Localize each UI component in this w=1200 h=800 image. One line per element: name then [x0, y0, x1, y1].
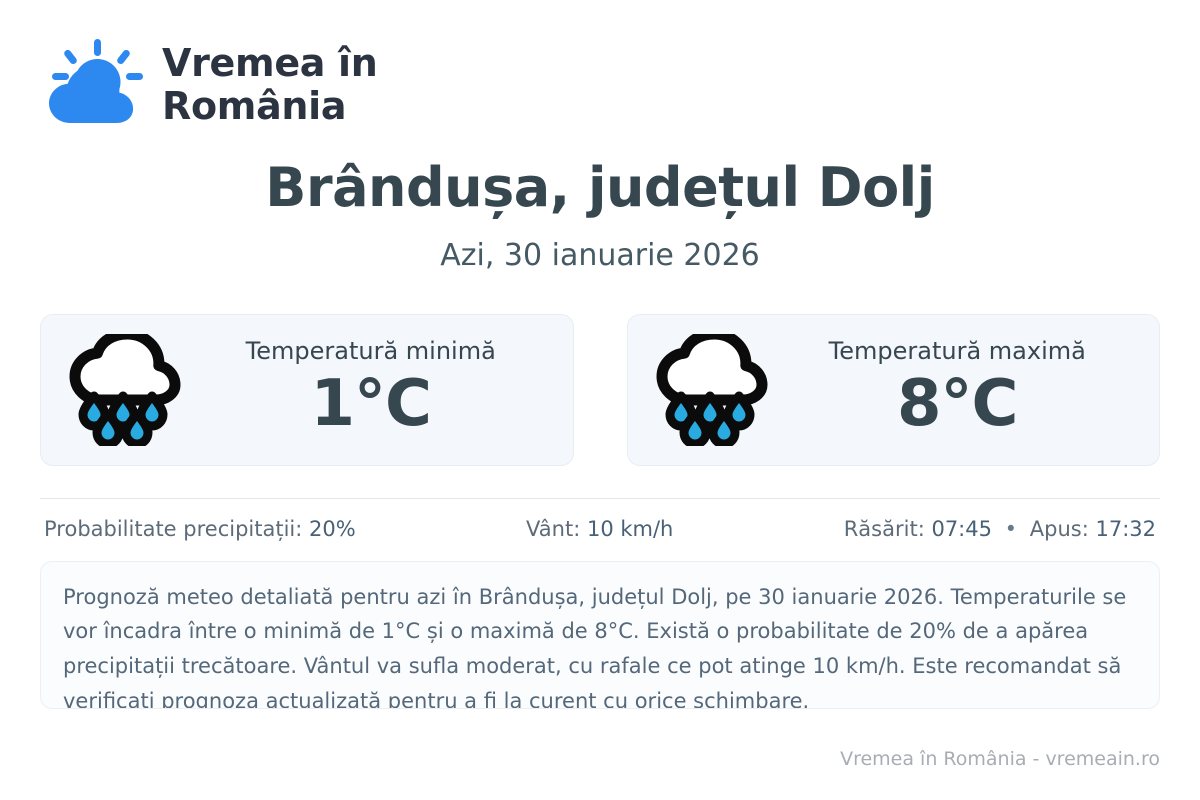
- rain-cloud-icon: [652, 334, 768, 446]
- forecast-description-text: Prognoză meteo detaliată pentru azi în B…: [63, 580, 1137, 709]
- sun-behind-cloud-icon: [40, 37, 144, 133]
- max-temperature-card: Temperatură maximă 8°C: [627, 314, 1161, 466]
- rain-cloud-icon: [65, 334, 181, 446]
- min-temperature-value: 1°C: [311, 367, 432, 443]
- sunrise-label: Răsărit:: [844, 517, 925, 541]
- max-temperature-label: Temperatură maximă: [829, 337, 1086, 366]
- max-temperature-value: 8°C: [897, 367, 1018, 443]
- brand-header: Vremea în România: [40, 0, 1160, 118]
- footer-credit: Vremea în România - vremeain.ro: [840, 748, 1160, 770]
- sunrise-value: 07:45: [931, 517, 992, 541]
- sun-times-separator: •: [999, 517, 1023, 541]
- min-temperature-label: Temperatură minimă: [246, 337, 496, 366]
- min-temperature-body: Temperatură minimă 1°C: [193, 337, 549, 443]
- precipitation-stat: Probabilitate precipitații: 20%: [44, 517, 356, 541]
- page-date: Azi, 30 ianuarie 2026: [40, 239, 1160, 272]
- forecast-description-box: Prognoză meteo detaliată pentru azi în B…: [40, 561, 1160, 709]
- precipitation-label: Probabilitate precipitații:: [44, 517, 302, 541]
- page-title: Brândușa, județul Dolj: [40, 160, 1160, 217]
- wind-value: 10 km/h: [587, 517, 673, 541]
- max-temperature-body: Temperatură maximă 8°C: [780, 337, 1136, 443]
- weather-page: Vremea în România Brândușa, județul Dolj…: [0, 0, 1200, 800]
- sunset-label: Apus:: [1030, 517, 1089, 541]
- sunset-value: 17:32: [1095, 517, 1156, 541]
- brand-name: Vremea în România: [162, 42, 378, 128]
- min-temperature-card: Temperatură minimă 1°C: [40, 314, 574, 466]
- sun-times-stat: Răsărit: 07:45 • Apus: 17:32: [844, 517, 1156, 541]
- precipitation-value: 20%: [309, 517, 356, 541]
- temperature-cards: Temperatură minimă 1°C Temperatură maxim…: [40, 314, 1160, 466]
- wind-label: Vânt:: [526, 517, 580, 541]
- stats-row: Probabilitate precipitații: 20% Vânt: 10…: [40, 499, 1160, 555]
- wind-stat: Vânt: 10 km/h: [526, 517, 673, 541]
